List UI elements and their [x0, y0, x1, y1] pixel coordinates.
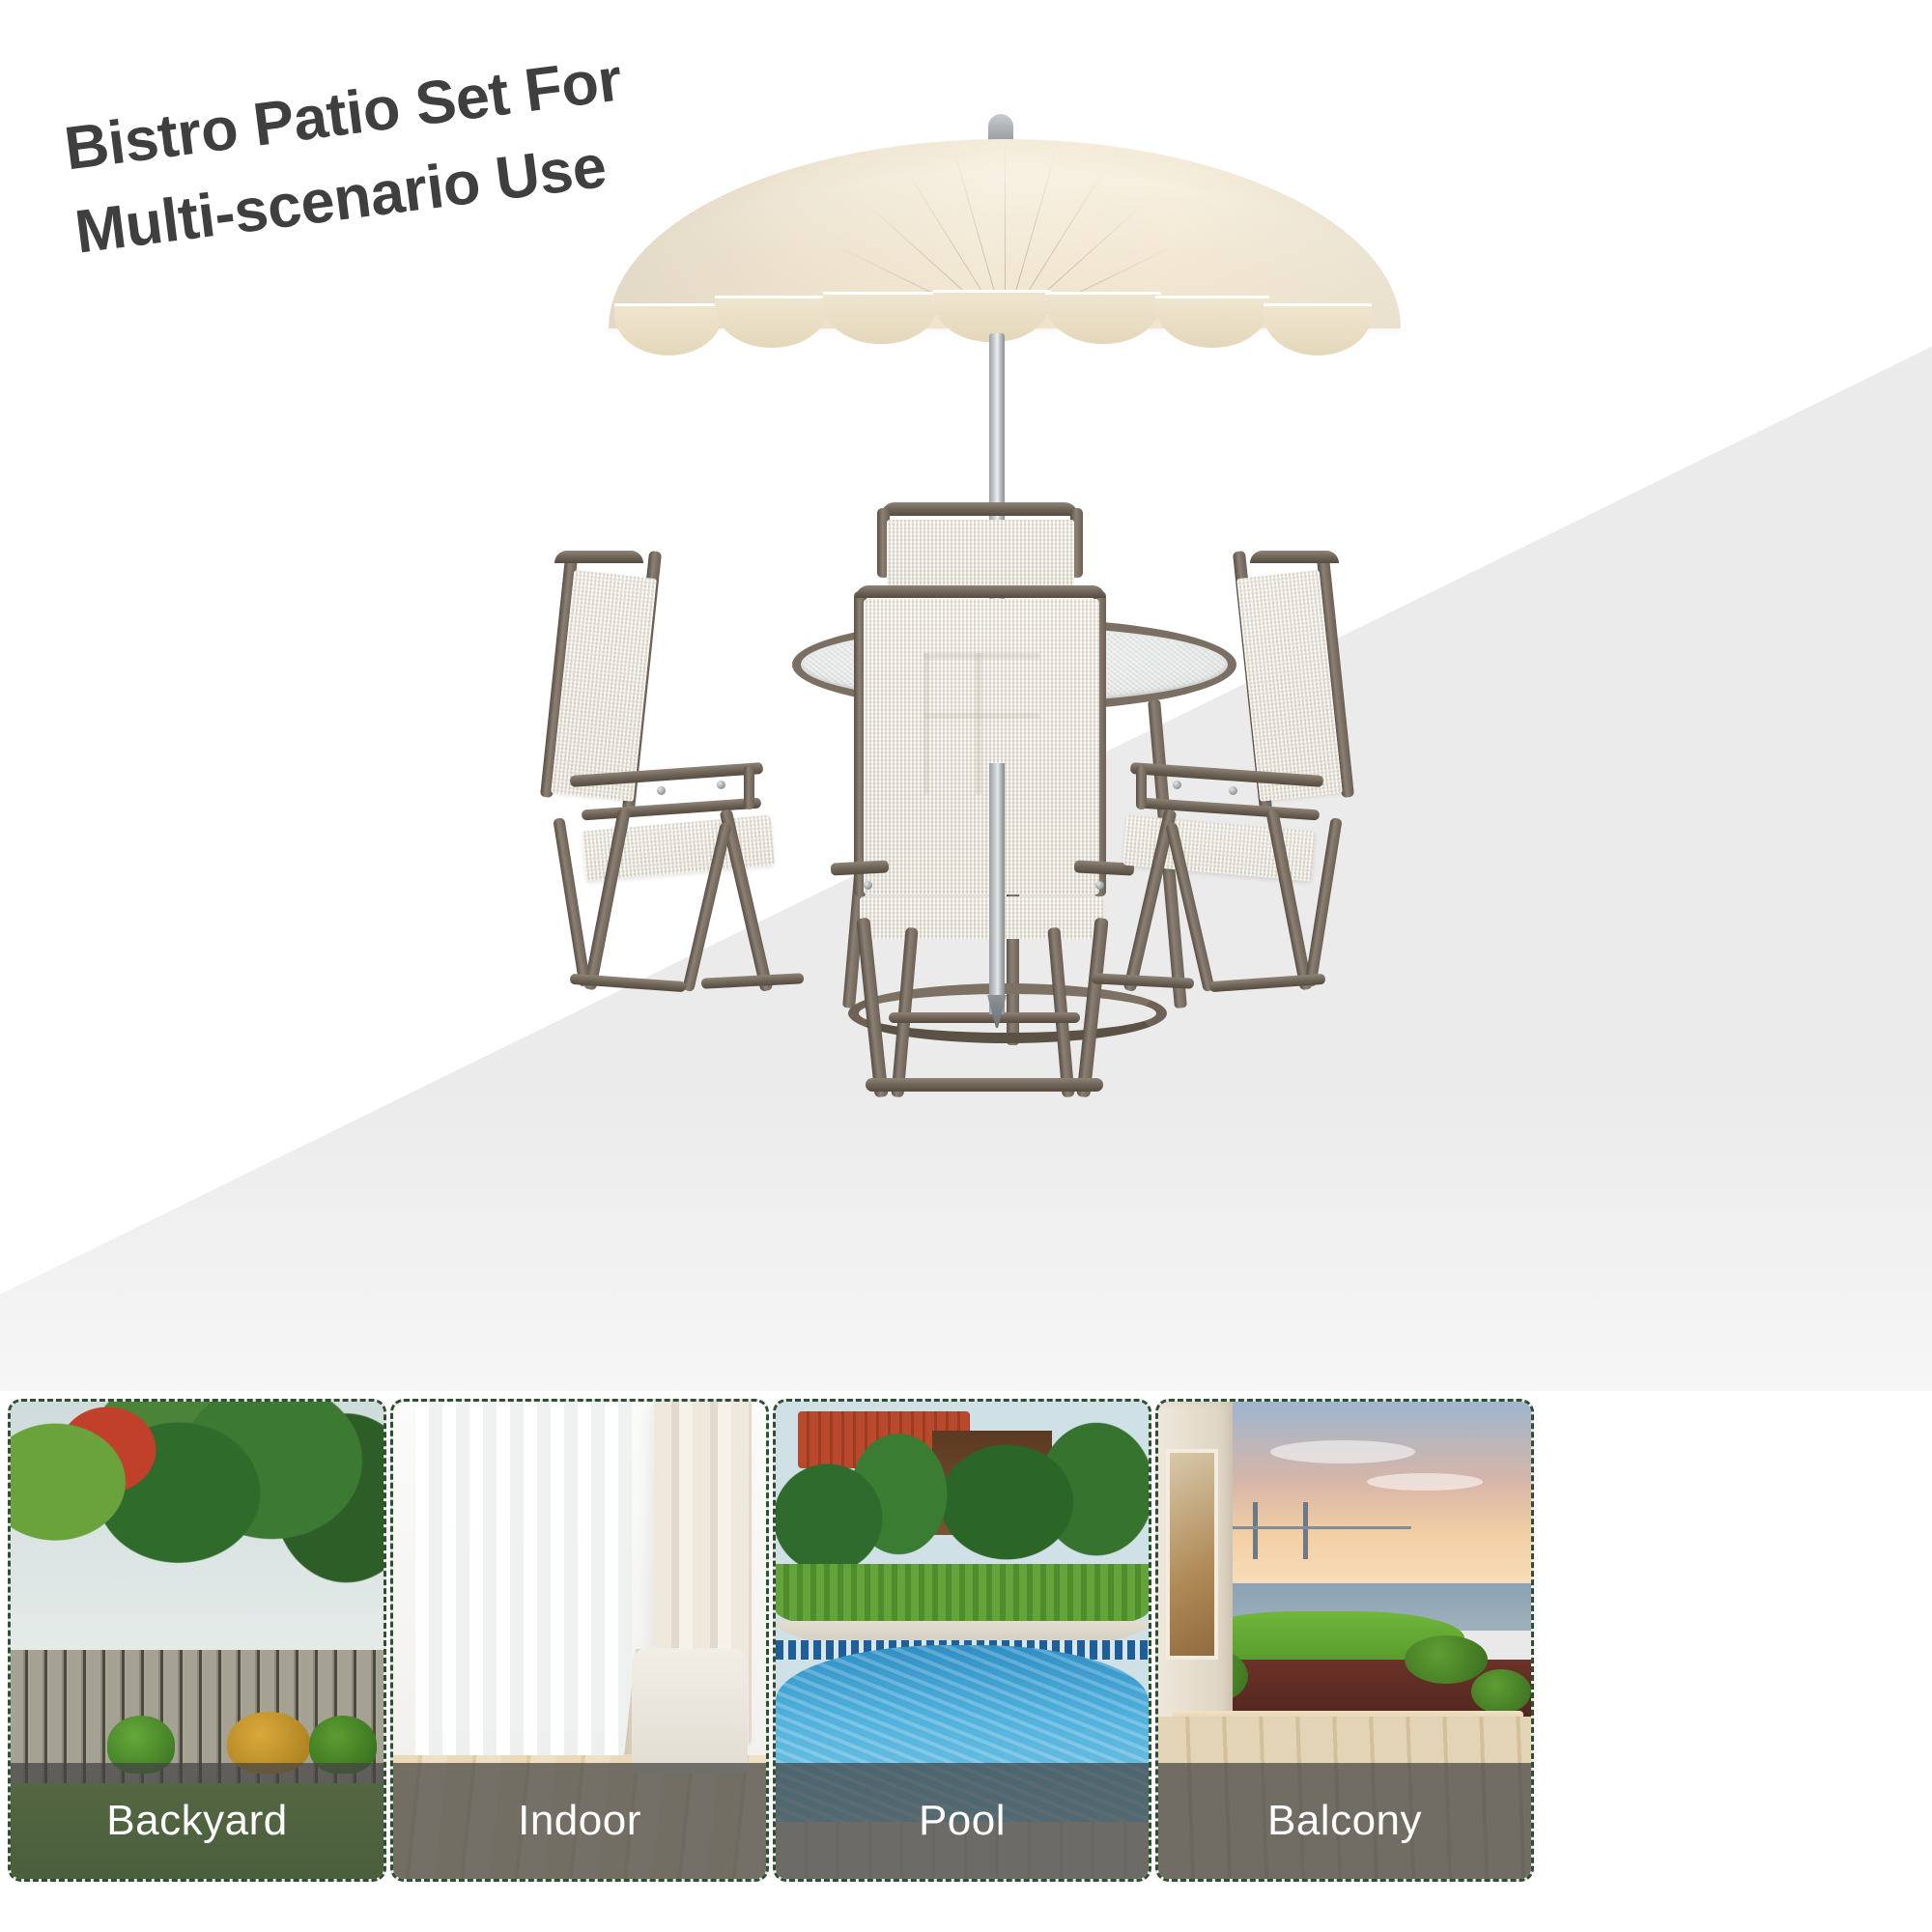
- scenario-card-backyard[interactable]: Backyard: [8, 1399, 386, 1882]
- patio-umbrella: [609, 114, 1401, 365]
- product-marketing-image: Bistro Patio Set For Multi-scenario Use: [0, 0, 1932, 1932]
- scenario-label-balcony: Balcony: [1158, 1763, 1531, 1879]
- chair-left: [512, 541, 831, 985]
- chair-center-seat: [860, 896, 1103, 939]
- hero-section: Bistro Patio Set For Multi-scenario Use: [0, 0, 1932, 1391]
- scenario-card-indoor[interactable]: Indoor: [390, 1399, 769, 1882]
- umbrella-pole-lower: [989, 763, 1005, 1014]
- patio-set-product-illustration: [502, 97, 1565, 1063]
- suspension-bridge-icon: [1218, 1502, 1412, 1559]
- scenario-thumbnail-strip: Backyard Indoor: [0, 1399, 1932, 1932]
- umbrella-valance: [614, 294, 1395, 361]
- scenario-label-pool: Pool: [776, 1763, 1149, 1879]
- scenario-label-indoor: Indoor: [393, 1763, 766, 1879]
- scenario-card-pool[interactable]: Pool: [773, 1399, 1151, 1882]
- chair-center-headrest: [887, 520, 1074, 589]
- scenario-card-balcony[interactable]: Balcony: [1155, 1399, 1534, 1882]
- chair-right: [1140, 541, 1468, 985]
- scenario-label-backyard: Backyard: [11, 1763, 384, 1879]
